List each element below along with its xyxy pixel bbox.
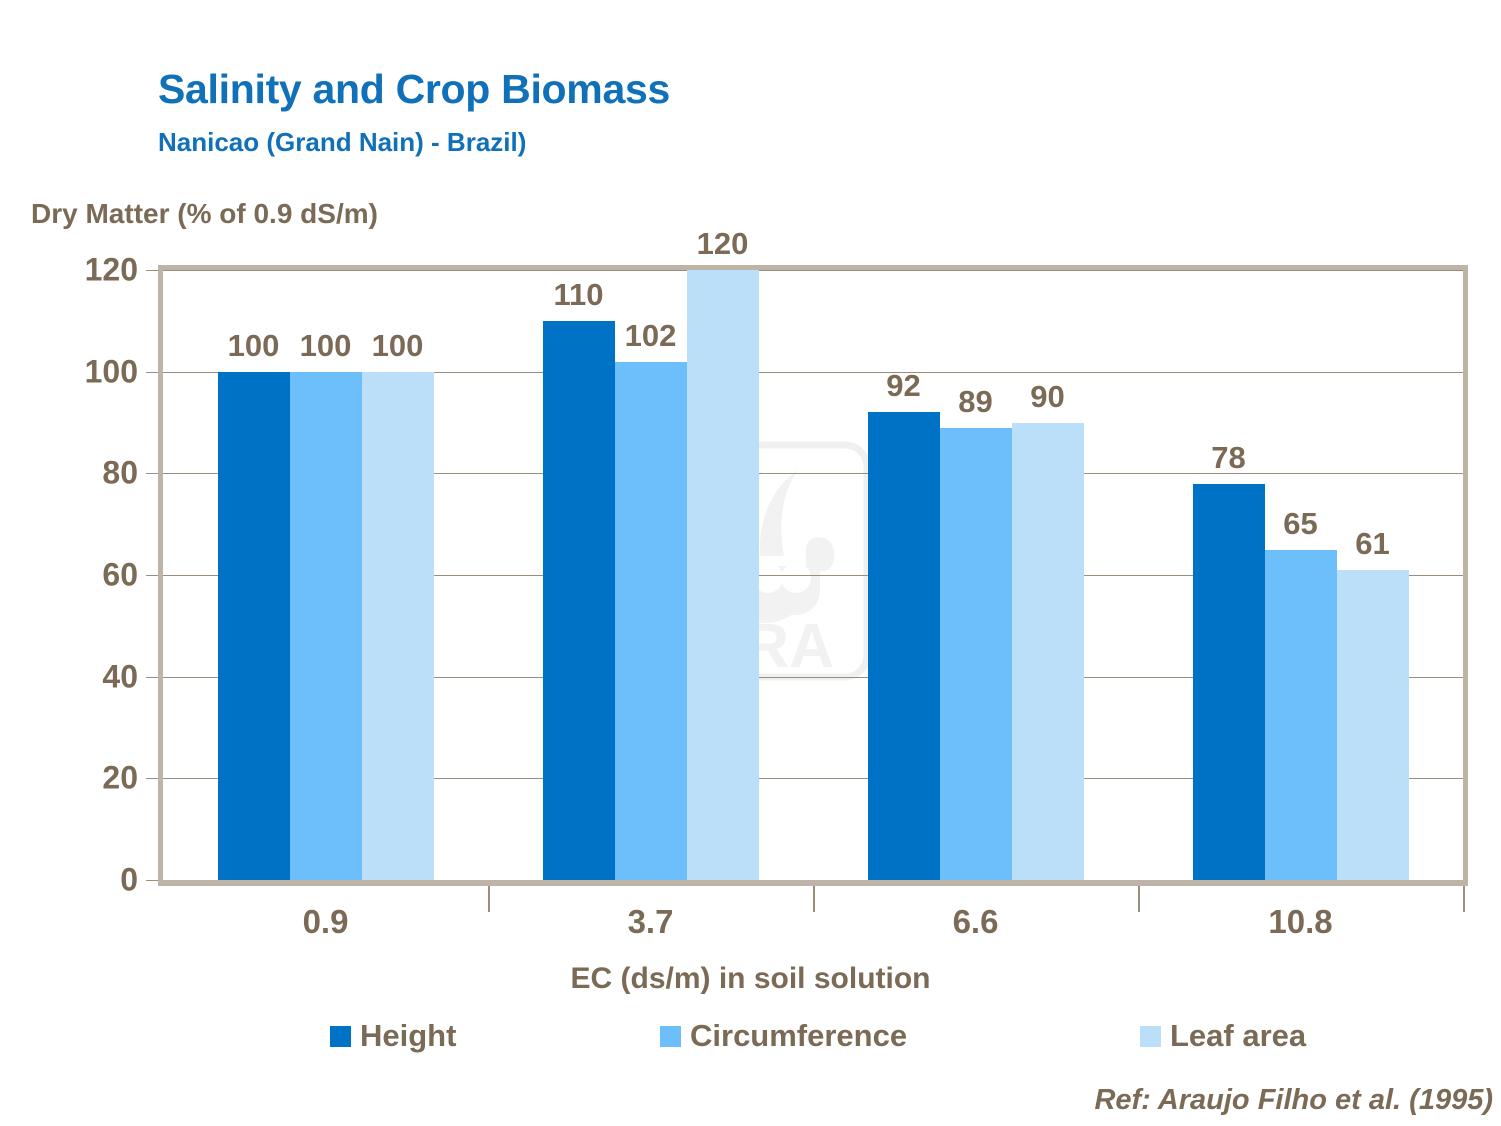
y-tick-label: 60 [42,557,138,594]
bar-leaf-area-6.6[interactable] [1012,423,1084,881]
bar-value-label: 90 [1012,379,1084,415]
y-tick-label: 80 [42,455,138,492]
bar-height-0.9[interactable] [218,372,290,880]
bar-value-label: 120 [687,226,759,262]
legend-label: Leaf area [1170,1018,1306,1054]
bar-value-label: 61 [1337,526,1409,562]
bar-circumference-10.8[interactable] [1265,550,1337,880]
y-tick-mark [146,575,158,576]
reference-note: Ref: Araujo Filho et al. (1995) [1094,1084,1493,1117]
legend-swatch-icon [660,1026,681,1047]
bar-value-label: 100 [362,328,434,364]
bar-height-6.6[interactable] [868,412,940,880]
bar-value-label: 100 [218,328,290,364]
legend-label: Circumference [690,1018,907,1054]
bar-circumference-3.7[interactable] [615,362,687,881]
y-tick-mark [146,372,158,373]
y-tick-mark [146,677,158,678]
bar-leaf-area-10.8[interactable] [1337,570,1409,880]
gridline [163,270,1463,271]
x-axis-separator [1463,886,1465,912]
bar-value-label: 102 [615,318,687,354]
legend-swatch-icon [1140,1026,1161,1047]
y-tick-label: 100 [42,353,138,390]
legend-item-circumference[interactable]: Circumference [660,1018,907,1054]
y-tick-label: 40 [42,658,138,695]
bar-value-label: 65 [1265,506,1337,542]
bar-value-label: 92 [868,368,940,404]
x-tick-label: 10.8 [1138,903,1463,941]
y-axis-title: Dry Matter (% of 0.9 dS/m) [31,198,378,230]
x-tick-label: 0.9 [163,903,488,941]
y-tick-label: 0 [42,862,138,899]
bar-value-label: 110 [543,277,615,313]
chart-subtitle: Nanicao (Grand Nain) - Brazil) [158,127,526,158]
x-tick-label: 3.7 [488,903,813,941]
chart-legend: HeightCircumferenceLeaf area [330,1018,1350,1064]
legend-item-leaf-area[interactable]: Leaf area [1140,1018,1306,1054]
x-tick-label: 6.6 [813,903,1138,941]
x-axis-title: EC (ds/m) in soil solution [0,962,1501,996]
y-tick-label: 20 [42,760,138,797]
bar-circumference-0.9[interactable] [290,372,362,880]
bar-value-label: 100 [290,328,362,364]
chart-title: Salinity and Crop Biomass [158,66,670,113]
y-tick-label: 120 [42,252,138,289]
bar-value-label: 89 [940,384,1012,420]
bar-circumference-6.6[interactable] [940,428,1012,880]
bar-leaf-area-0.9[interactable] [362,372,434,880]
bar-height-10.8[interactable] [1193,484,1265,881]
y-tick-mark [146,270,158,271]
legend-item-height[interactable]: Height [330,1018,456,1054]
legend-label: Height [360,1018,456,1054]
bar-height-3.7[interactable] [543,321,615,880]
legend-swatch-icon [330,1026,351,1047]
y-tick-mark [146,473,158,474]
bar-value-label: 78 [1193,440,1265,476]
bar-leaf-area-3.7[interactable] [687,270,759,880]
y-tick-mark [146,778,158,779]
y-tick-mark [146,880,158,881]
